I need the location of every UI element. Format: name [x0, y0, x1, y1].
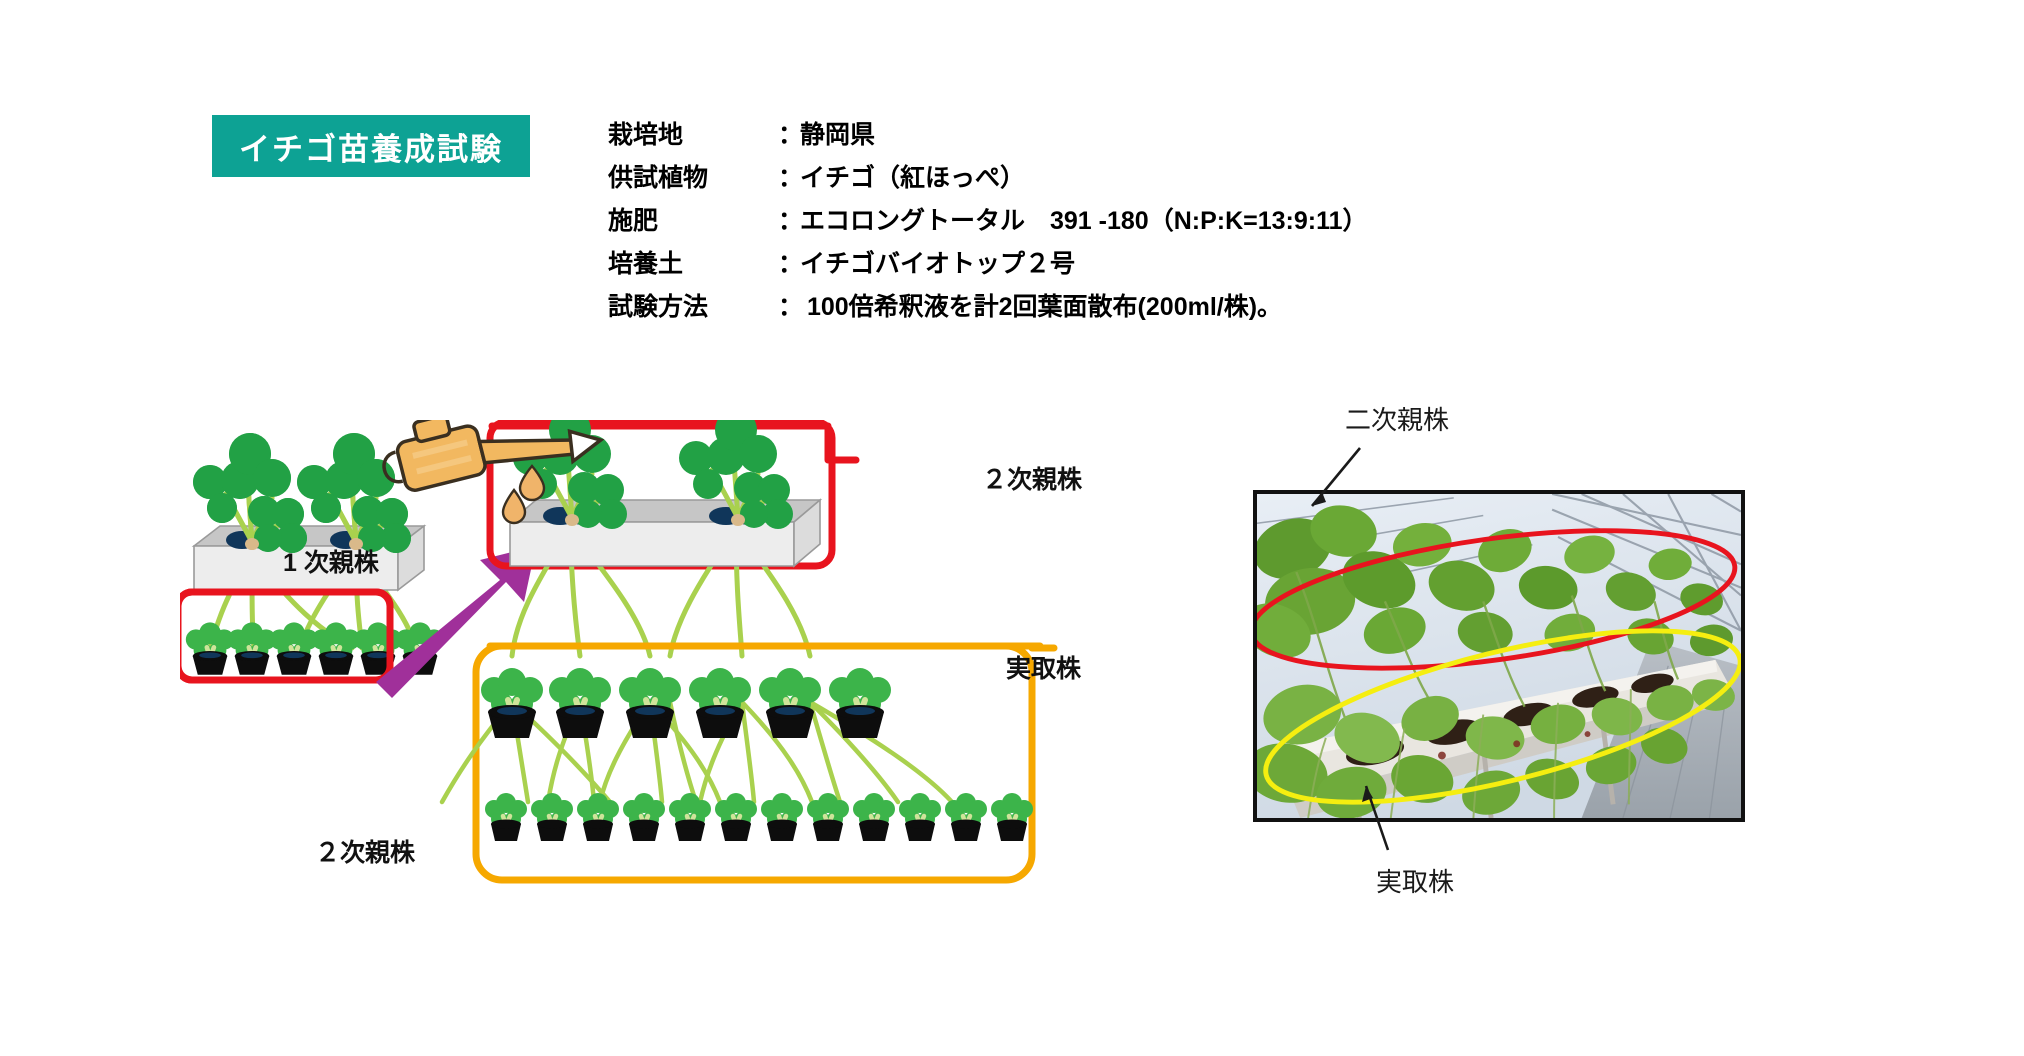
spec-colon: ： — [778, 158, 800, 194]
greenhouse-photo-image — [1257, 494, 1741, 818]
title-badge: イチゴ苗養成試験 — [212, 115, 530, 177]
spec-row: 供試植物 ： イチゴ（紅ほっぺ） — [608, 158, 1368, 201]
photo-label-secondary-parent: 二次親株 — [1345, 400, 1449, 437]
spec-value: イチゴ（紅ほっぺ） — [800, 158, 1025, 194]
spec-value: イチゴバイオトップ２号 — [800, 244, 1075, 280]
spec-label: 栽培地 — [608, 115, 778, 151]
spec-label: 培養土 — [608, 244, 778, 280]
spec-colon: ： — [778, 287, 800, 323]
spec-colon: ： — [778, 244, 800, 280]
label-secondary-parent-left: ２次親株 — [315, 833, 415, 869]
spec-row: 施肥 ： エコロングトータル 391 -180（N:P:K=13:9:11） — [608, 201, 1368, 244]
spec-value: 静岡県 — [800, 115, 875, 151]
label-primary-parent: 1 次親株 — [283, 543, 379, 579]
title-badge-label: イチゴ苗養成試験 — [239, 124, 503, 169]
label-secondary-parent-right: ２次親株 — [982, 460, 1082, 496]
spec-row: 栽培地 ： 静岡県 — [608, 115, 1368, 158]
trial-spec-list: 栽培地 ： 静岡県 供試植物 ： イチゴ（紅ほっぺ） 施肥 ： エコロングトータ… — [608, 115, 1368, 330]
greenhouse-photo — [1253, 490, 1745, 822]
spec-row: 試験方法 ： 100倍希釈液を計2回葉面散布(200ml/株)。 — [608, 287, 1368, 330]
spec-colon: ： — [778, 201, 800, 237]
spec-label: 施肥 — [608, 201, 778, 237]
slide-canvas: イチゴ苗養成試験 栽培地 ： 静岡県 供試植物 ： イチゴ（紅ほっぺ） 施肥 ：… — [0, 0, 2024, 1056]
photo-label-harvest: 実取株 — [1376, 862, 1454, 899]
label-harvest-plants: 実取株 — [1006, 649, 1081, 685]
spec-value: 100倍希釈液を計2回葉面散布(200ml/株)。 — [800, 287, 1282, 323]
spec-colon: ： — [778, 115, 800, 151]
spec-label: 供試植物 — [608, 158, 778, 194]
spec-label: 試験方法 — [608, 287, 778, 323]
spec-value: エコロングトータル 391 -180（N:P:K=13:9:11） — [800, 201, 1368, 237]
spec-row: 培養土 ： イチゴバイオトップ２号 — [608, 244, 1368, 287]
secondary-parent-group — [375, 420, 1054, 880]
